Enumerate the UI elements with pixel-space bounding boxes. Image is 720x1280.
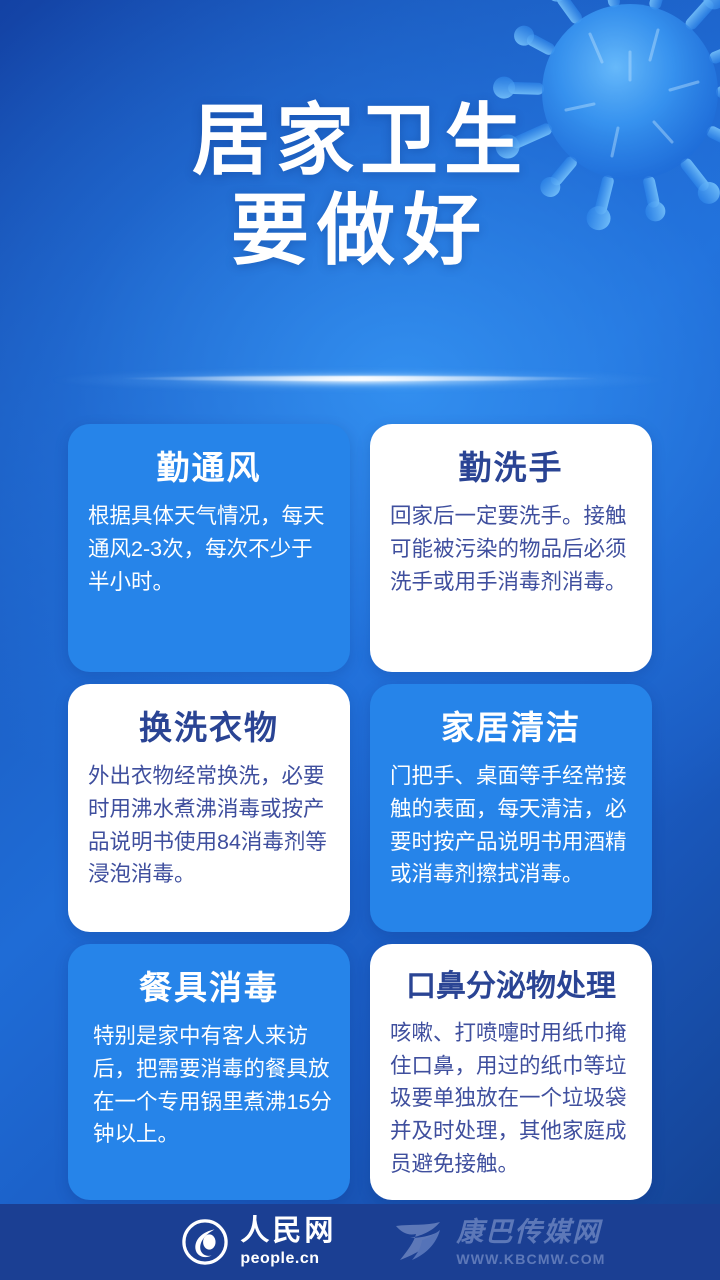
card-clothes-washing: 换洗衣物 外出衣物经常换洗，必要时用沸水煮沸消毒或按产品说明书使用84消毒剂等浸… <box>68 684 350 932</box>
card-body: 回家后一定要洗手。接触可能被污染的物品后必须洗手或用手消毒剂消毒。 <box>390 500 632 598</box>
card-body: 根据具体天气情况，每天通风2-3次，每次不少于半小时。 <box>88 500 330 598</box>
card-title: 餐具消毒 <box>139 970 279 1006</box>
people-cn-swirl-logo-icon <box>182 1219 228 1265</box>
divider-core-line <box>120 376 600 381</box>
card-home-cleaning: 家居清洁 门把手、桌面等手经常接触的表面，每天清洁，必要时按产品说明书用酒精或消… <box>370 684 652 932</box>
card-title: 勤洗手 <box>459 450 564 486</box>
footer-logos: 人民网 people.cn 康巴传媒网 WWW.KBCMW.COM <box>182 1217 605 1267</box>
card-body: 特别是家中有客人来访后，把需要消毒的餐具放在一个专用锅里煮沸15分钟以上。 <box>83 1020 335 1151</box>
card-oral-nasal-secretions: 口鼻分泌物处理 咳嗽、打喷嚏时用纸巾掩住口鼻，用过的纸巾等垃圾要单独放在一个垃圾… <box>370 944 652 1200</box>
brand-name-en: people.cn <box>240 1251 319 1267</box>
brand-name-cn: 人民网 <box>240 1217 336 1246</box>
kbcmw-eagle-logo-icon <box>392 1220 446 1264</box>
watermark-name-cn: 康巴传媒网 <box>456 1219 601 1246</box>
title-line-2: 要做好 <box>0 186 720 276</box>
title-line-1: 居家卫生 <box>0 96 720 186</box>
card-body: 咳嗽、打喷嚏时用纸巾掩住口鼻，用过的纸巾等垃圾要单独放在一个垃圾袋并及时处理，其… <box>390 1017 632 1180</box>
card-title: 口鼻分泌物处理 <box>406 970 616 1003</box>
card-title: 家居清洁 <box>441 710 581 746</box>
card-title: 换洗衣物 <box>139 710 279 746</box>
divider-glow <box>50 368 670 392</box>
card-title: 勤通风 <box>157 450 262 486</box>
watermark-url: WWW.KBCMW.COM <box>456 1252 605 1266</box>
card-tableware-disinfection: 餐具消毒 特别是家中有客人来访后，把需要消毒的餐具放在一个专用锅里煮沸15分钟以… <box>68 944 350 1200</box>
people-cn-wordmark: 人民网 people.cn <box>240 1217 336 1267</box>
poster-title: 居家卫生 要做好 <box>0 96 720 277</box>
card-body: 外出衣物经常换洗，必要时用沸水煮沸消毒或按产品说明书使用84消毒剂等浸泡消毒。 <box>88 760 330 891</box>
tips-card-grid: 勤通风 根据具体天气情况，每天通风2-3次，每次不少于半小时。 勤洗手 回家后一… <box>68 424 652 1200</box>
kbcmw-watermark: 康巴传媒网 WWW.KBCMW.COM <box>392 1219 605 1266</box>
card-hand-washing: 勤洗手 回家后一定要洗手。接触可能被污染的物品后必须洗手或用手消毒剂消毒。 <box>370 424 652 672</box>
card-body: 门把手、桌面等手经常接触的表面，每天清洁，必要时按产品说明书用酒精或消毒剂擦拭消… <box>390 760 632 891</box>
card-ventilation: 勤通风 根据具体天气情况，每天通风2-3次，每次不少于半小时。 <box>68 424 350 672</box>
poster-canvas: 居家卫生 要做好 勤通风 根据具体天气情况，每天通风2-3次，每次不少于半小时。… <box>0 0 720 1280</box>
glow-divider <box>50 360 670 400</box>
kbcmw-wordmark: 康巴传媒网 WWW.KBCMW.COM <box>456 1219 605 1266</box>
people-cn-brand: 人民网 people.cn <box>182 1217 336 1267</box>
footer-bar: 人民网 people.cn 康巴传媒网 WWW.KBCMW.COM <box>0 1204 720 1280</box>
